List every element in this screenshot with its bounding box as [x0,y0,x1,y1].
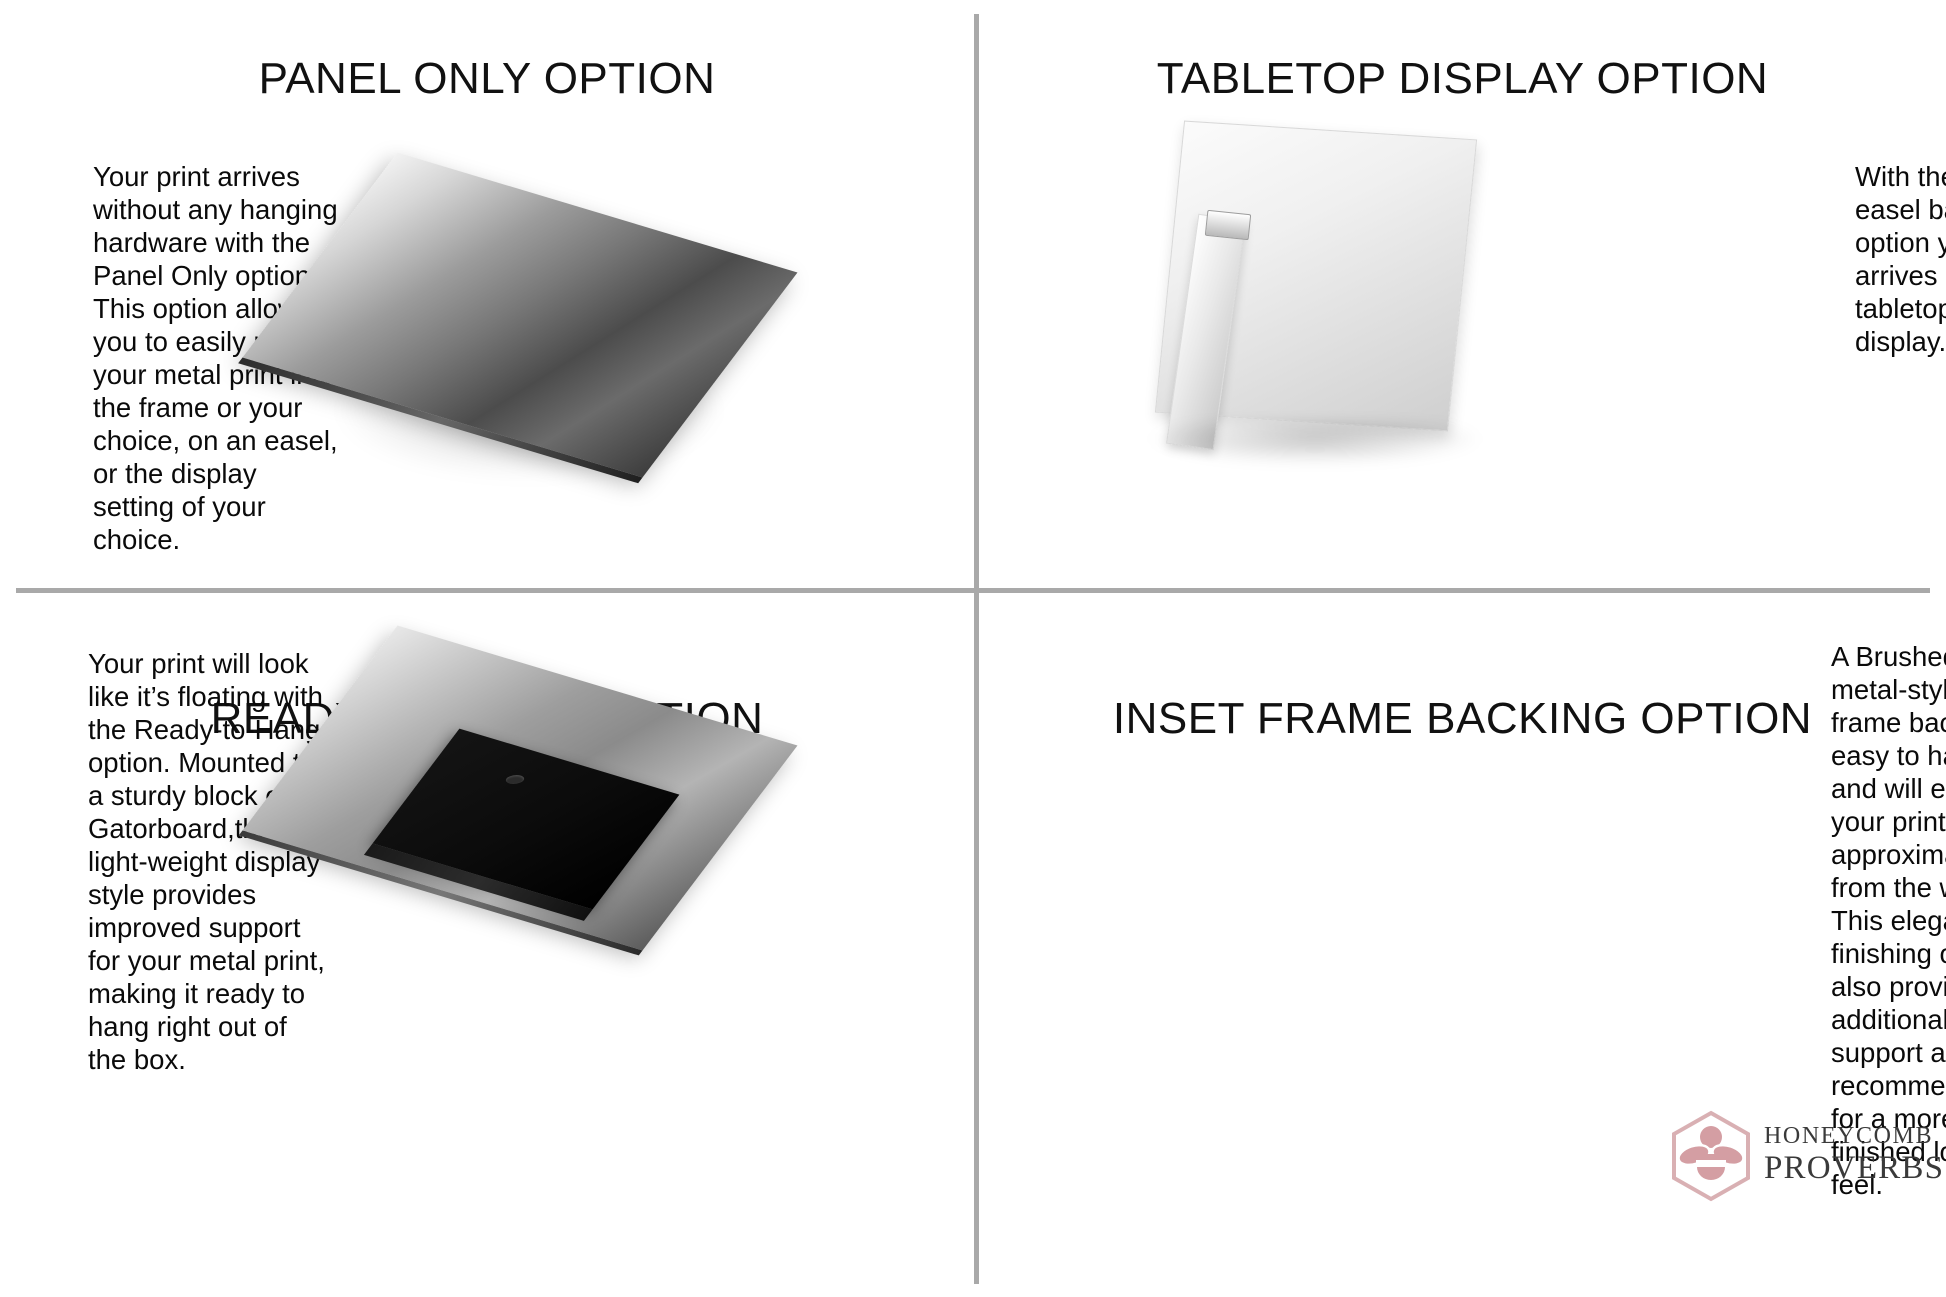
panel-body-tabletop-display: With the hinged easel back option your p… [1855,160,1946,358]
brand-name-line1: HONEYCOMB [1764,1124,1944,1148]
honeycomb-bee-hexagon-icon [1668,1110,1754,1202]
panel-title-panel-only: PANEL ONLY OPTION [0,54,974,104]
brand-logo-text: HONEYCOMB PROVERBS [1764,1124,1944,1185]
easel-shadow [1150,422,1480,464]
brand-name-line2: PROVERBS [1764,1152,1944,1185]
gatorboard-float-mount-photo [320,663,790,963]
panel-title-tabletop-display: TABLETOP DISPLAY OPTION [979,54,1946,104]
display-options-infographic: PANEL ONLY OPTION Your print arrives wit… [0,0,1946,1297]
metal-panel-photo [320,190,780,500]
panel-title-inset-frame-backing: INSET FRAME BACKING OPTION [979,694,1946,744]
panel-body-ready-to-hang: Your print will look like it’s floating … [88,647,326,1076]
easel-hinge [1205,210,1251,240]
panel-section-ready-to-hang: READY TO HANG OPTION Your print will loo… [0,593,974,1297]
brand-logo: HONEYCOMB PROVERBS [1668,1110,1926,1202]
easel-back-panel-photo [1110,130,1490,470]
